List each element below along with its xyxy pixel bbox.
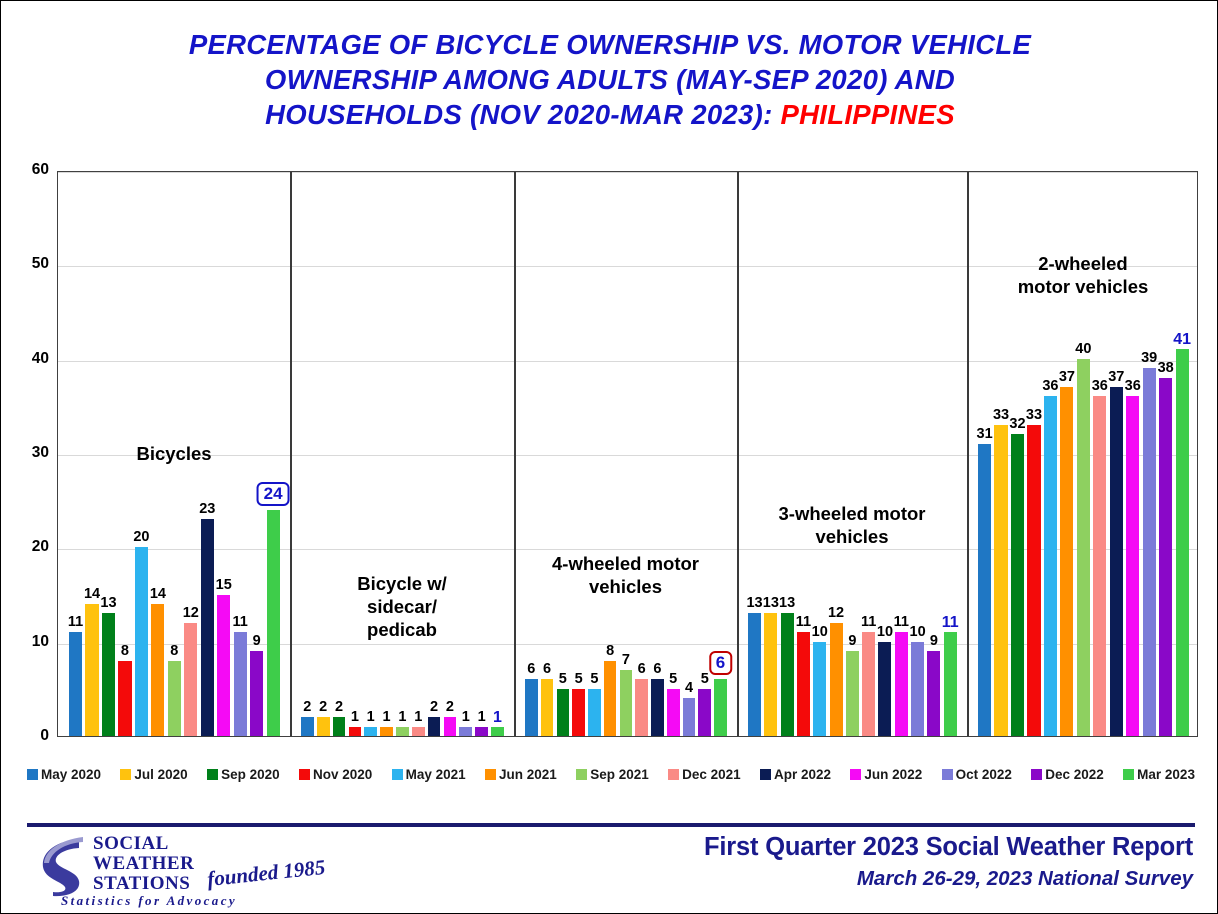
group-label-4: 2-wheeled motor vehicles: [978, 252, 1188, 298]
bar: [1060, 387, 1073, 736]
bar-value-label: 8: [170, 643, 178, 659]
bar: [781, 613, 794, 736]
footer-survey-dates: March 26-29, 2023 National Survey: [433, 867, 1193, 891]
bar: [588, 689, 601, 736]
bar: [797, 632, 810, 736]
bar-value-label: 1: [367, 709, 375, 725]
logo-founded-text: founded 1985: [206, 855, 326, 892]
chart-area: 0102030405060 Bicycles111413820148122315…: [1, 1, 1218, 761]
chart-page: PERCENTAGE OF BICYCLE OWNERSHIP VS. MOTO…: [0, 0, 1218, 914]
bar-value-label: 11: [894, 614, 909, 630]
y-tick-label-60: 60: [9, 161, 49, 179]
bar: [151, 604, 164, 736]
bar-value-label: 36: [1042, 378, 1058, 394]
legend-item-0[interactable]: May 2020: [27, 767, 101, 782]
legend-swatch-icon: [207, 769, 218, 780]
bar-value-label: 5: [575, 671, 583, 687]
legend-label: Dec 2022: [1045, 767, 1104, 782]
y-tick-label-20: 20: [9, 538, 49, 556]
bar-value-label: 11: [233, 614, 248, 630]
bar: [168, 661, 181, 736]
bar-value-label: 11: [68, 614, 83, 630]
legend-label: Jul 2020: [134, 767, 187, 782]
bar: [1110, 387, 1123, 736]
legend-item-3[interactable]: Nov 2020: [299, 767, 372, 782]
bar: [135, 547, 148, 736]
legend-item-2[interactable]: Sep 2020: [207, 767, 280, 782]
bar-value-label: 12: [183, 605, 199, 621]
legend-swatch-icon: [27, 769, 38, 780]
legend-label: Jun 2021: [499, 767, 557, 782]
bar: [604, 661, 617, 736]
bar-value-label: 38: [1158, 360, 1174, 376]
bar-group-4: 2-wheeled motor vehicles3133323336374036…: [967, 172, 1199, 736]
bar: [1011, 434, 1024, 736]
logo-tagline: Statistics for Advocacy: [61, 893, 237, 909]
bar-value-label: 39: [1141, 350, 1157, 366]
bar: [830, 623, 843, 736]
legend-item-6[interactable]: Sep 2021: [576, 767, 649, 782]
group-label-0: Bicycles: [74, 442, 274, 465]
bar-value-label: 37: [1059, 369, 1075, 385]
bar: [217, 595, 230, 737]
bar: [878, 642, 891, 736]
bar-value-label: 5: [701, 671, 709, 687]
bar: [978, 444, 991, 736]
bar-value-label: 20: [133, 529, 149, 545]
logo-word-stations: STATIONS: [93, 873, 190, 895]
bar-group-0: Bicycles11141382014812231511924: [58, 172, 290, 736]
bar: [525, 679, 538, 736]
bar: [491, 727, 504, 736]
plot-area: Bicycles11141382014812231511924Bicycle w…: [57, 171, 1198, 737]
legend-label: Apr 2022: [774, 767, 831, 782]
bar: [683, 698, 696, 736]
bar: [620, 670, 633, 736]
bar-value-label: 40: [1075, 341, 1091, 357]
bar: [201, 519, 214, 736]
legend-label: Sep 2021: [590, 767, 649, 782]
bar-value-label: 14: [84, 586, 100, 602]
legend-swatch-icon: [850, 769, 861, 780]
legend-item-12[interactable]: Mar 2023: [1123, 767, 1195, 782]
legend-label: Oct 2022: [956, 767, 1012, 782]
group-label-2: 4-wheeled motor vehicles: [521, 552, 731, 598]
bar: [444, 717, 457, 736]
legend-item-8[interactable]: Apr 2022: [760, 767, 831, 782]
bar-value-label: 5: [590, 671, 598, 687]
bar: [846, 651, 859, 736]
bar-group-2: 4-wheeled motor vehicles6655587665456: [514, 172, 737, 736]
legend-label: Mar 2023: [1137, 767, 1195, 782]
bar: [364, 727, 377, 736]
bar-value-label: 1: [414, 709, 422, 725]
bar-value-label: 8: [121, 643, 129, 659]
bar-value-label: 41: [1173, 331, 1191, 349]
bar: [927, 651, 940, 736]
bar-value-label: 32: [1009, 416, 1025, 432]
legend-swatch-icon: [1123, 769, 1134, 780]
bar: [764, 613, 777, 736]
legend-swatch-icon: [668, 769, 679, 780]
legend-item-7[interactable]: Dec 2021: [668, 767, 741, 782]
bar: [118, 661, 131, 736]
bar-value-label: 2: [319, 699, 327, 715]
bar-value-label: 1: [383, 709, 391, 725]
bar-value-label: 7: [622, 652, 630, 668]
bar: [1027, 425, 1040, 736]
bar-value-label: 12: [828, 605, 844, 621]
bar-value-label: 6: [543, 661, 551, 677]
bar: [572, 689, 585, 736]
bar-value-label: 15: [216, 577, 232, 593]
bar: [667, 689, 680, 736]
bar-value-label: 14: [150, 586, 166, 602]
bar-value-label: 13: [100, 595, 116, 611]
bar-value-label: 2: [335, 699, 343, 715]
bar: [635, 679, 648, 736]
bar-value-label: 6: [638, 661, 646, 677]
y-tick-label-10: 10: [9, 633, 49, 651]
bar: [267, 510, 280, 736]
bar-value-label: 33: [993, 407, 1009, 423]
bar: [317, 717, 330, 736]
sws-logo: SOCIAL WEATHER STATIONS founded 1985 Sta…: [31, 831, 361, 903]
bar-value-label: 1: [478, 709, 486, 725]
bar: [541, 679, 554, 736]
legend-swatch-icon: [1031, 769, 1042, 780]
bar-value-label: 37: [1108, 369, 1124, 385]
legend-swatch-icon: [485, 769, 496, 780]
bar-value-label: 6: [527, 661, 535, 677]
bar: [349, 727, 362, 736]
bar: [234, 632, 247, 736]
bar-value-label: 10: [910, 624, 926, 640]
legend-item-11[interactable]: Dec 2022: [1031, 767, 1104, 782]
bar: [651, 679, 664, 736]
legend-label: Dec 2021: [682, 767, 741, 782]
bar: [69, 632, 82, 736]
y-tick-label-50: 50: [9, 255, 49, 273]
legend-label: Jun 2022: [864, 767, 922, 782]
bar-value-label: 4: [685, 680, 693, 696]
legend-item-1[interactable]: Jul 2020: [120, 767, 187, 782]
legend-item-4[interactable]: May 2021: [392, 767, 466, 782]
bar-value-label: 13: [779, 595, 795, 611]
bar: [85, 604, 98, 736]
bar: [1159, 378, 1172, 736]
bar: [1093, 396, 1106, 736]
footer-report-title: First Quarter 2023 Social Weather Report: [433, 833, 1193, 862]
bar-value-label: 2: [446, 699, 454, 715]
bar: [911, 642, 924, 736]
footer-rule-top: [27, 823, 1195, 827]
bar: [944, 632, 957, 736]
y-tick-label-0: 0: [9, 727, 49, 745]
legend-swatch-icon: [942, 769, 953, 780]
bar: [184, 623, 197, 736]
bar-value-label: 11: [942, 614, 959, 632]
bar-group-1: Bicycle w/ sidecar/ pedicab2221111122111: [290, 172, 514, 736]
bar-value-label: 11: [861, 614, 876, 630]
bar: [748, 613, 761, 736]
bar: [301, 717, 314, 736]
bar: [994, 425, 1007, 736]
bar: [1077, 359, 1090, 736]
y-tick-label-30: 30: [9, 444, 49, 462]
bar: [250, 651, 263, 736]
legend-item-10[interactable]: Oct 2022: [942, 767, 1012, 782]
bar-value-label: 31: [977, 426, 993, 442]
bar-value-label: 13: [746, 595, 762, 611]
bar-value-label: 2: [303, 699, 311, 715]
legend-swatch-icon: [120, 769, 131, 780]
bar-value-label: 1: [493, 709, 502, 727]
bar-value-label: 1: [351, 709, 359, 725]
bar-value-label: 2: [430, 699, 438, 715]
bar: [1143, 368, 1156, 736]
bar: [862, 632, 875, 736]
logo-word-social: SOCIAL: [93, 833, 169, 855]
bar: [412, 727, 425, 736]
bar: [380, 727, 393, 736]
highlighted-value-box: 24: [257, 482, 290, 506]
legend-swatch-icon: [392, 769, 403, 780]
bar-value-label: 1: [462, 709, 470, 725]
bar-value-label: 5: [669, 671, 677, 687]
bar-value-label: 13: [763, 595, 779, 611]
bar: [428, 717, 441, 736]
bar-value-label: 33: [1026, 407, 1042, 423]
legend-swatch-icon: [576, 769, 587, 780]
bar-value-label: 5: [559, 671, 567, 687]
group-label-1: Bicycle w/ sidecar/ pedicab: [322, 572, 482, 641]
bar: [459, 727, 472, 736]
legend-swatch-icon: [760, 769, 771, 780]
bar: [714, 679, 727, 736]
bar-value-label: 6: [653, 661, 661, 677]
group-label-3: 3-wheeled motor vehicles: [745, 502, 960, 548]
legend-label: May 2020: [41, 767, 101, 782]
legend-label: May 2021: [406, 767, 466, 782]
bar-value-label: 23: [199, 501, 215, 517]
legend-item-9[interactable]: Jun 2022: [850, 767, 922, 782]
logo-word-weather: WEATHER: [93, 853, 194, 875]
bar: [102, 613, 115, 736]
bar: [895, 632, 908, 736]
legend-item-5[interactable]: Jun 2021: [485, 767, 557, 782]
footer-report-text: First Quarter 2023 Social Weather Report…: [433, 833, 1193, 891]
bar: [813, 642, 826, 736]
y-tick-label-40: 40: [9, 350, 49, 368]
bar-value-label: 36: [1092, 378, 1108, 394]
bar: [1126, 396, 1139, 736]
bar-value-label: 10: [877, 624, 893, 640]
bar: [1176, 349, 1189, 736]
legend-label: Nov 2020: [313, 767, 372, 782]
bar-value-label: 8: [606, 643, 614, 659]
sws-logo-mark: [35, 835, 87, 897]
bar-value-label: 9: [930, 633, 938, 649]
bar-group-3: 3-wheeled motor vehicles1313131110129111…: [737, 172, 967, 736]
bar: [396, 727, 409, 736]
bar-value-label: 9: [848, 633, 856, 649]
bar-value-label: 9: [253, 633, 261, 649]
bar: [557, 689, 570, 736]
bar-value-label: 1: [398, 709, 406, 725]
legend-label: Sep 2020: [221, 767, 280, 782]
legend-swatch-icon: [299, 769, 310, 780]
legend: May 2020Jul 2020Sep 2020Nov 2020May 2021…: [27, 761, 1195, 787]
highlighted-value-box: 6: [709, 651, 732, 675]
bar: [698, 689, 711, 736]
bar: [1044, 396, 1057, 736]
bar-value-label: 10: [812, 624, 828, 640]
bar: [333, 717, 346, 736]
bar-value-label: 36: [1125, 378, 1141, 394]
bar-value-label: 11: [796, 614, 811, 630]
bar: [475, 727, 488, 736]
